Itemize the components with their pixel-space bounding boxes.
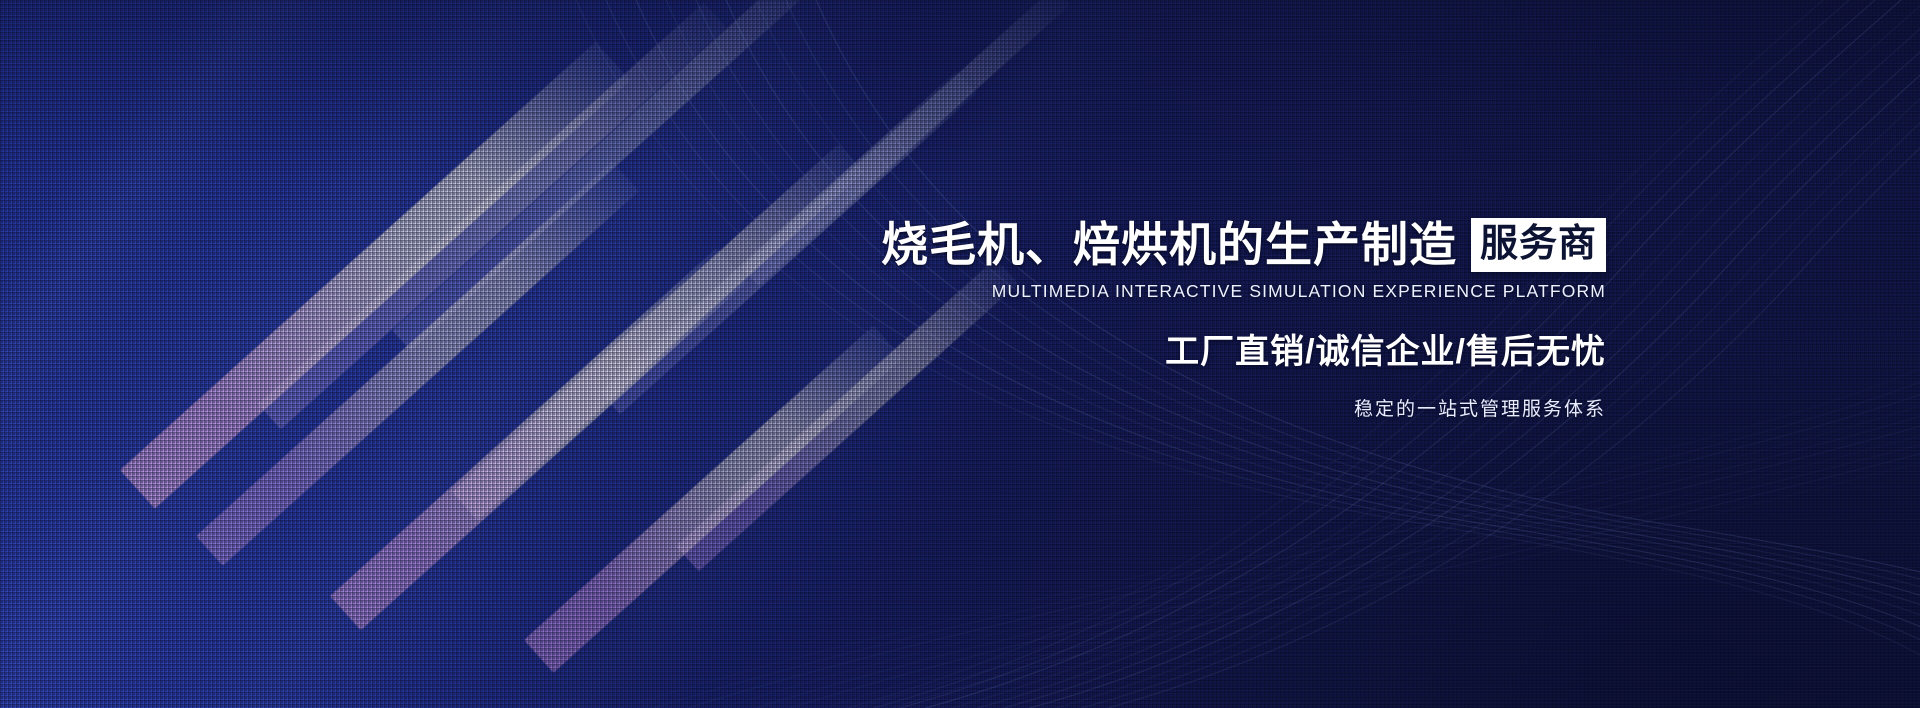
tagline-text: 工厂直销/诚信企业/售后无忧 bbox=[826, 324, 1606, 373]
subtitle-english: MULTIMEDIA INTERACTIVE SIMULATION EXPERI… bbox=[826, 281, 1606, 302]
headline-badge: 服务商 bbox=[1471, 218, 1606, 272]
headline-main-text: 烧毛机、焙烘机的生产制造 bbox=[881, 221, 1457, 270]
footer-tagline-text: 稳定的一站式管理服务体系 bbox=[826, 394, 1606, 421]
banner-copy-block: 烧毛机、焙烘机的生产制造 服务商 MULTIMEDIA INTERACTIVE … bbox=[826, 218, 1606, 421]
hero-banner: 烧毛机、焙烘机的生产制造 服务商 MULTIMEDIA INTERACTIVE … bbox=[0, 0, 1920, 708]
headline-row: 烧毛机、焙烘机的生产制造 服务商 bbox=[826, 218, 1606, 272]
